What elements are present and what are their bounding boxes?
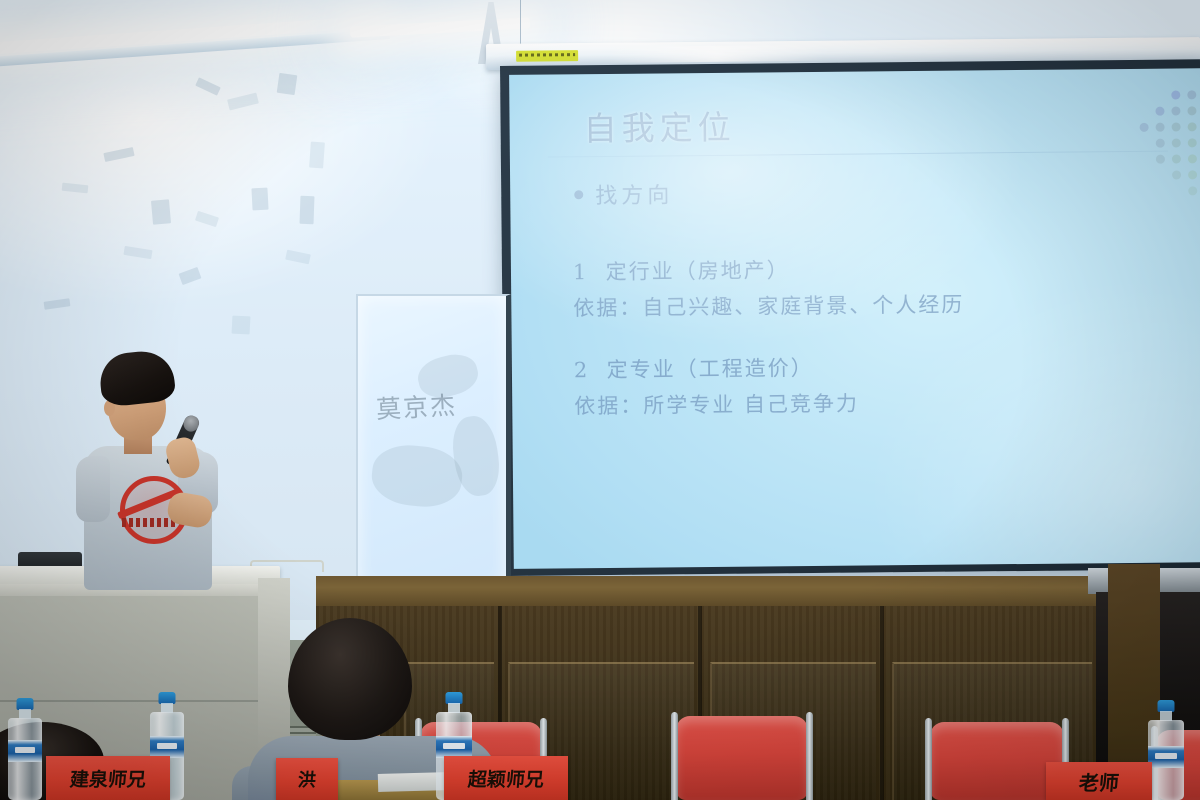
dot-grid-row [1140,186,1200,196]
slide-section-2-heading: 2 定专业（工程造价） [574,352,859,385]
bottle-body [1148,720,1184,800]
bottle-label [1148,746,1184,768]
dot-grid-dot [1155,107,1164,116]
wall-mark [277,73,298,95]
dot-grid-dot [1188,170,1197,179]
name-card-3-text: 超颖师兄 [467,765,545,792]
name-card-1: 建泉师兄 [46,756,170,800]
chair[interactable] [676,716,808,800]
bottle-label [436,736,472,758]
speaker-left-sleeve [76,456,110,522]
speaker-hair [97,348,176,407]
screen-hanging-wire [520,0,521,48]
bottle-body [8,718,42,800]
dot-grid-dot [1140,123,1149,132]
dot-grid-dot [1171,106,1180,115]
chair-backrest [676,716,808,800]
dot-grid-dot [1188,138,1197,147]
chair[interactable] [930,722,1064,800]
slide-section-2: 2 定专业（工程造价） 依据：所学专业 自己竞争力 [574,352,859,421]
dot-grid-row [1139,106,1200,116]
slide-bullet-text: 找方向 [595,177,673,210]
speaker-person [72,352,228,590]
name-card-1-text: 建泉师兄 [69,765,147,792]
slide-section-1: 1 定行业（房地产） 依据：自己兴趣、家庭背景、个人经历 [573,253,965,323]
chair-frame [806,712,813,800]
chair-backrest [930,722,1064,800]
bottle-label [150,736,184,758]
dot-grid-row [1140,122,1200,132]
name-card-4: 老师 [1046,762,1152,800]
dot-grid-dot [1187,90,1196,99]
speaker-shirt-logo-text [122,518,176,527]
slide-dot-grid-decoration [1139,90,1200,203]
classroom-photo-scene: 自我定位 找方向 1 定行业（房地产） 依据：自己兴趣、家庭背景、个人经历 2 [0,0,1200,800]
housing-highlight [606,45,826,63]
slide-section-1-detail: 依据：自己兴趣、家庭背景、个人经历 [573,289,964,323]
water-bottle[interactable] [1148,700,1184,800]
slide-title-divider [548,151,1168,158]
stage-wood-rail [316,576,1116,606]
dot-grid-row [1140,170,1200,180]
dot-grid-dot [1188,122,1197,131]
presentation-slide: 自我定位 找方向 1 定行业（房地产） 依据：自己兴趣、家庭背景、个人经历 2 [509,68,1200,569]
dot-grid-dot [1156,155,1165,164]
wall-mark [309,142,325,169]
slide-title: 自我定位 [583,101,735,150]
slide-section-2-detail: 依据：所学专业 自己竞争力 [574,388,859,421]
wall-mark [251,188,268,211]
whiteboard-handwriting: 莫京杰 [375,386,458,426]
dot-grid-dot [1171,90,1180,99]
microphone-head [181,413,201,434]
chair-frame [671,712,678,800]
slide-section-2-title: 定专业（工程造价） [607,356,814,382]
dot-grid-row [1140,138,1200,148]
wall-mark [300,196,315,224]
bullet-dot-icon [574,190,583,199]
dot-grid-dot [1188,154,1197,163]
dot-grid-dot [1187,106,1196,115]
projector-screen-frame: 自我定位 找方向 1 定行业（房地产） 依据：自己兴趣、家庭背景、个人经历 2 [500,59,1200,576]
bottle-label [8,740,42,762]
projection-surface: 自我定位 找方向 1 定行业（房地产） 依据：自己兴趣、家庭背景、个人经历 2 [509,68,1200,569]
water-bottle[interactable] [8,698,42,800]
name-card-2: 洪 [276,758,338,800]
screen-brand-label [516,50,578,62]
slide-section-1-number: 1 [573,260,589,284]
dot-grid-row [1140,154,1200,164]
whiteboard-smudge [369,441,465,510]
name-card-4-text: 老师 [1078,767,1121,796]
dot-grid-dot [1156,139,1165,148]
chair-frame [925,718,932,800]
wood-wall-seam [880,606,884,800]
wall-mark [151,199,171,224]
slide-section-1-title: 定行业（房地产） [606,258,790,284]
dot-grid-dot [1156,123,1165,132]
name-card-3: 超颖师兄 [444,756,568,800]
dot-grid-dot [1188,186,1197,195]
dot-grid-dot [1172,170,1181,179]
whiteboard: 莫京杰 [356,294,511,590]
dot-grid-dot [1172,122,1181,131]
name-card-2-text: 洪 [297,766,317,792]
dot-grid-dot [1172,138,1181,147]
slide-bullet-item: 找方向 [574,177,673,210]
slide-section-1-heading: 1 定行业（房地产） [573,253,964,287]
dot-grid-row [1139,90,1200,100]
wall-mark [232,316,251,335]
dot-grid-dot [1172,154,1181,163]
slide-section-2-number: 2 [574,358,590,382]
